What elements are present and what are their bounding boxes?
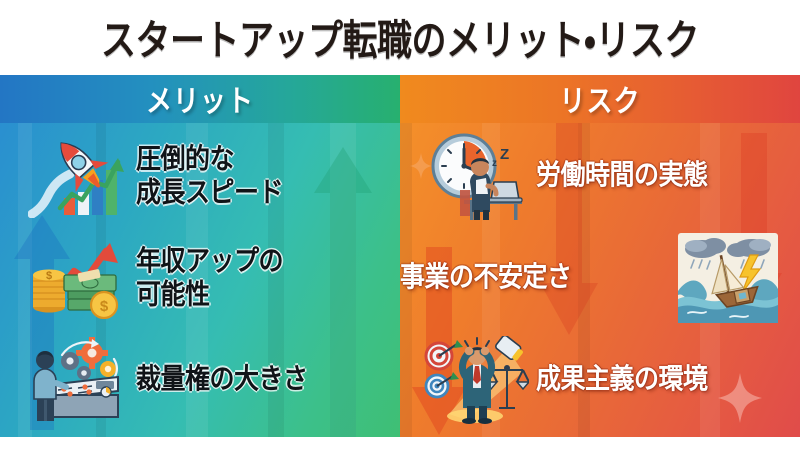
control-panel-gears-icon [22, 334, 130, 426]
infographic-slide: スタートアップ転職のメリット・リスク メリット リスク [0, 0, 800, 450]
column-header-band: メリット リスク [0, 75, 800, 123]
column-header-risk: リスク [400, 75, 800, 123]
list-item-label-line1: 労働時間の実態 [536, 159, 708, 190]
list-item-label: 労働時間の実態 [536, 159, 800, 192]
list-item-label: 事業の不安定さ [400, 261, 668, 294]
stormy-sea-boat-icon [674, 232, 782, 324]
risk-panel: Z z [400, 123, 800, 437]
column-header-merit: メリット [0, 75, 400, 123]
svg-text:$: $ [46, 270, 52, 282]
list-item-label-line1: 成果主義の環境 [536, 363, 708, 394]
svg-text:$: $ [100, 298, 109, 315]
list-item[interactable]: 事業の不安定さ [400, 228, 800, 328]
svg-text:Z: Z [500, 146, 509, 163]
list-item-label: 年収アップの 可能性 [136, 245, 400, 311]
target-stress-scales-icon [422, 334, 530, 426]
list-item-label-line1: 裁量権の大きさ [136, 363, 308, 394]
list-item-label-line1: 事業の不安定さ [400, 261, 572, 292]
column-header-merit-label: メリット [146, 78, 254, 121]
list-item-label-line1: 圧倒的な [136, 143, 234, 174]
column-header-risk-label: リスク [559, 78, 640, 121]
risk-item-list: Z z [400, 123, 800, 437]
list-item-label: 成果主義の環境 [536, 363, 800, 396]
svg-text:z: z [492, 158, 497, 169]
list-item-label-line2: 成長スピード [136, 176, 283, 207]
list-item-label-line2: 可能性 [136, 278, 210, 309]
rocket-growth-chart-icon [22, 130, 130, 222]
list-item[interactable]: 裁量権の大きさ [0, 330, 400, 430]
list-item-label-line1: 年収アップの [136, 245, 283, 276]
money-coins-uptrend-icon: $ $ [22, 232, 130, 324]
list-item-label: 裁量権の大きさ [136, 363, 400, 396]
list-item[interactable]: Z z [400, 126, 800, 226]
merit-panel: 圧倒的な 成長スピード [0, 123, 400, 437]
list-item-label: 圧倒的な 成長スピード [136, 143, 400, 209]
merit-item-list: 圧倒的な 成長スピード [0, 123, 400, 437]
columns-body: 圧倒的な 成長スピード [0, 123, 800, 437]
footer-strip [0, 437, 800, 450]
page-title: スタートアップ転職のメリット・リスク [101, 7, 699, 67]
list-item[interactable]: 成果主義の環境 [400, 330, 800, 430]
title-bar: スタートアップ転職のメリット・リスク [0, 0, 800, 75]
list-item[interactable]: 圧倒的な 成長スピード [0, 126, 400, 226]
clock-overworked-laptop-icon: Z z [422, 130, 530, 222]
list-item[interactable]: $ $ [0, 228, 400, 328]
